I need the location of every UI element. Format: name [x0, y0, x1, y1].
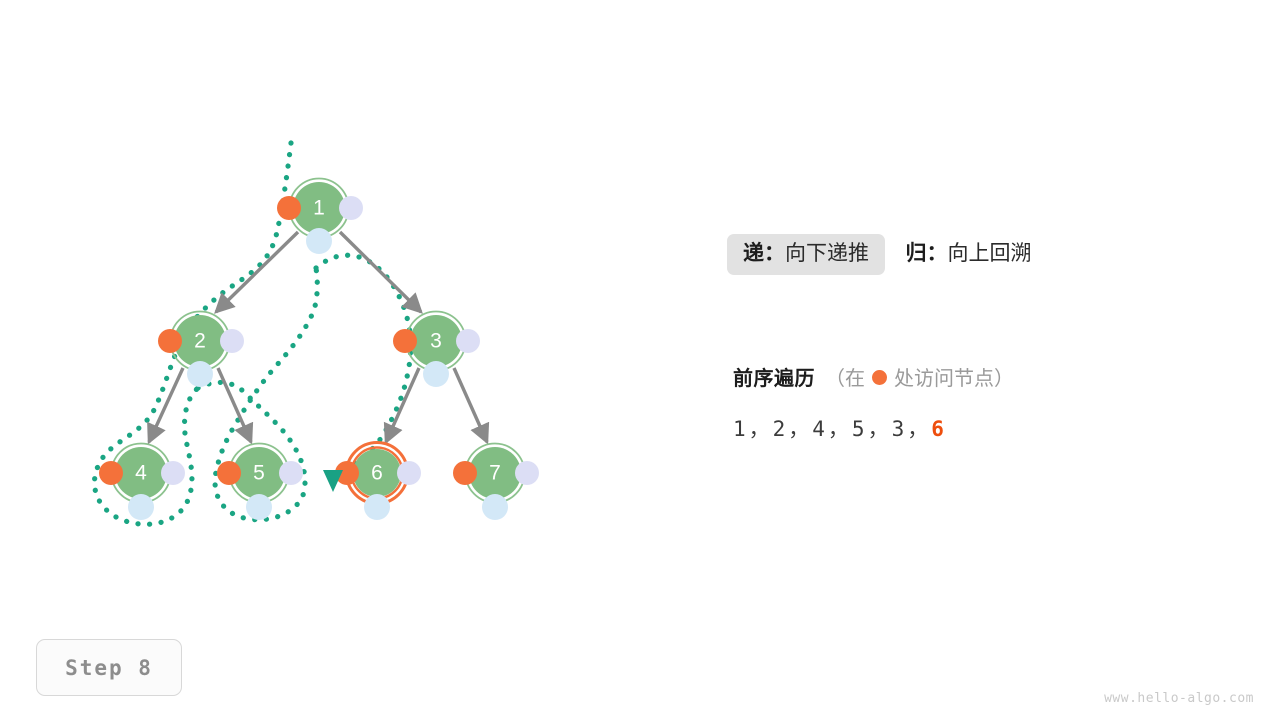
tree-node-6[interactable]: 6	[335, 443, 421, 521]
node-3-bottom-dot	[423, 361, 449, 387]
edge-1-3	[340, 232, 421, 312]
node-1-bottom-dot	[306, 228, 332, 254]
node-4-bottom-dot	[128, 494, 154, 520]
traversal-note-before: （在	[825, 362, 865, 391]
edge-3-7	[454, 368, 487, 442]
watermark: www.hello-algo.com	[1104, 691, 1254, 706]
node-5-visit-dot	[217, 461, 241, 485]
traversal-order-panel: 前序遍历 （在 处访问节点） 1，2，4，5，3，6	[733, 362, 1253, 443]
legend-recurse-text: 向下递推	[785, 243, 869, 264]
node-2-right-dot	[220, 329, 244, 353]
traversal-sequence: 1，2，4，5，3，6	[733, 413, 1253, 443]
legend-return-text: 向上回溯	[947, 243, 1031, 264]
node-6-bottom-dot	[364, 494, 390, 520]
tree-node-4[interactable]: 4	[99, 444, 185, 521]
traversal-note-after: 处访问节点）	[894, 362, 1014, 391]
node-1-label: 1	[313, 197, 325, 220]
step-badge-label: Step 8	[65, 656, 153, 680]
legend-return-label: 归：	[905, 243, 947, 264]
edge-2-5	[218, 368, 251, 442]
node-4-right-dot	[161, 461, 185, 485]
traversal-sequence-visited: 1，2，4，5，3，	[733, 417, 931, 441]
node-2-visit-dot	[158, 329, 182, 353]
diagram-canvas: 1 2 3 4	[0, 0, 1280, 720]
node-2-label: 2	[194, 330, 206, 353]
node-1-right-dot	[339, 196, 363, 220]
node-1-visit-dot	[277, 196, 301, 220]
node-4-visit-dot	[99, 461, 123, 485]
visit-dot-icon	[872, 370, 887, 385]
node-6-label: 6	[371, 462, 383, 485]
node-6-right-dot	[397, 461, 421, 485]
legend-item-return: 归： 向上回溯	[889, 234, 1047, 275]
traversal-title: 前序遍历	[733, 362, 815, 391]
legend-panel: 递： 向下递推 归： 向上回溯	[727, 232, 1207, 275]
node-3-label: 3	[430, 330, 442, 353]
node-7-label: 7	[489, 462, 501, 485]
traversal-title-row: 前序遍历 （在 处访问节点）	[733, 362, 1253, 391]
edge-1-2	[216, 232, 298, 312]
legend-recurse-label: 递：	[743, 243, 785, 264]
node-4-label: 4	[135, 462, 147, 485]
node-7-visit-dot	[453, 461, 477, 485]
legend-item-recurse: 递： 向下递推	[727, 234, 885, 275]
node-5-right-dot	[279, 461, 303, 485]
node-7-bottom-dot	[482, 494, 508, 520]
node-5-bottom-dot	[246, 494, 272, 520]
binary-tree-diagram: 1 2 3 4	[0, 0, 640, 600]
tree-node-7[interactable]: 7	[453, 444, 539, 521]
node-3-right-dot	[456, 329, 480, 353]
node-7-right-dot	[515, 461, 539, 485]
tree-node-5[interactable]: 5	[217, 444, 303, 521]
traversal-sequence-current: 6	[931, 417, 947, 441]
step-badge: Step 8	[36, 639, 182, 696]
node-3-visit-dot	[393, 329, 417, 353]
edge-3-6	[386, 368, 419, 442]
node-2-bottom-dot	[187, 361, 213, 387]
watermark-text: www.hello-algo.com	[1104, 691, 1254, 706]
node-5-label: 5	[253, 462, 265, 485]
tree-node-2[interactable]: 2	[158, 312, 244, 388]
